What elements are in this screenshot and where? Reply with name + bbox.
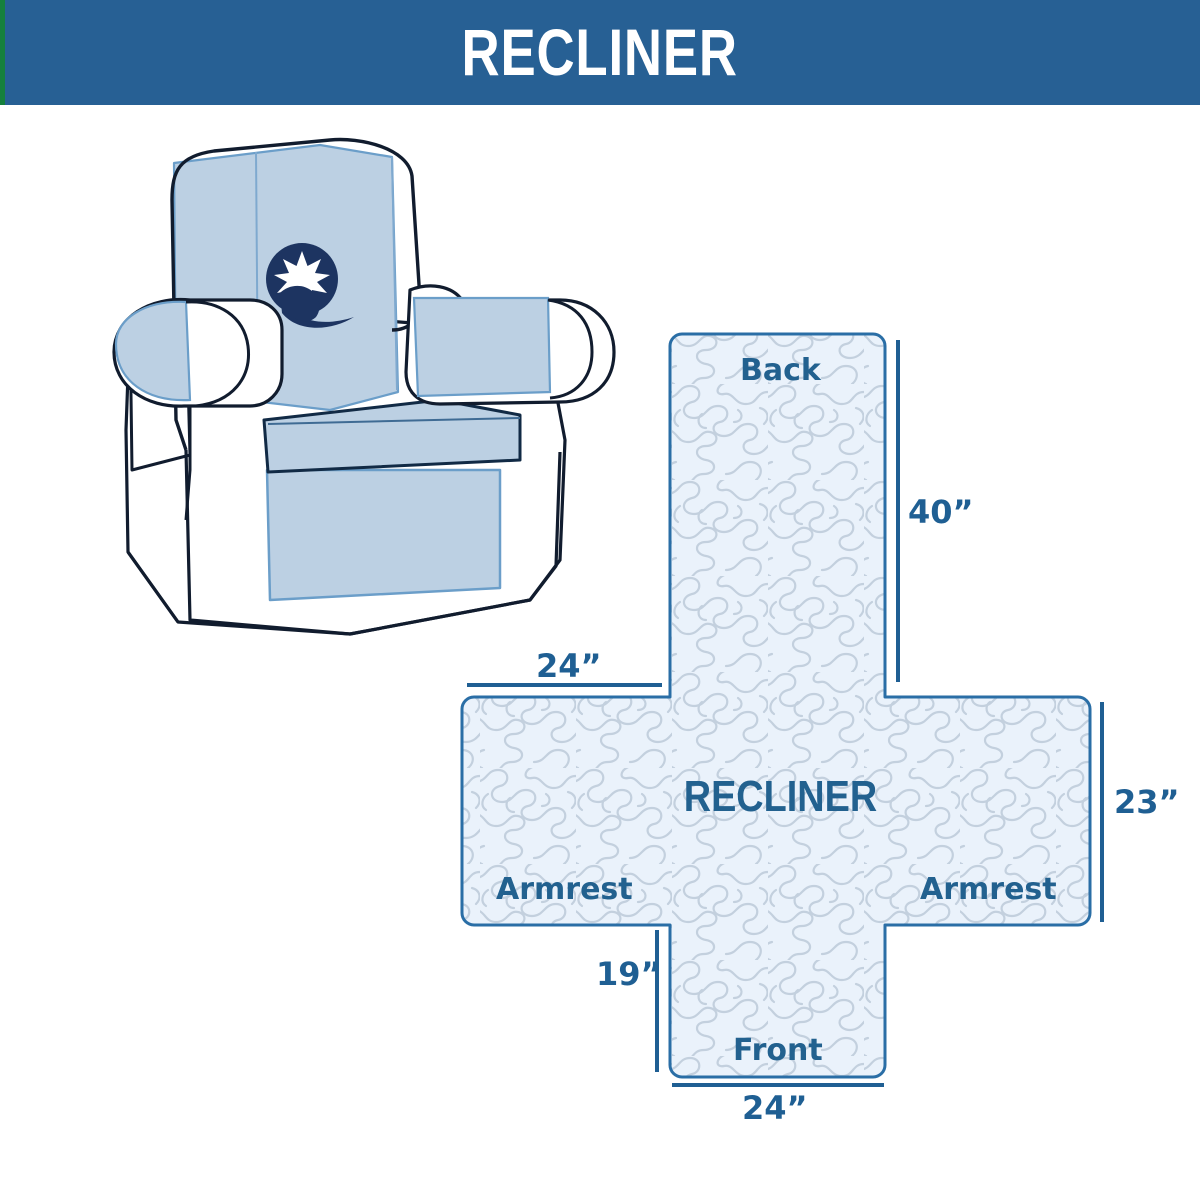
dimension-label-40in: 40” bbox=[908, 496, 974, 528]
dimension-label-24in-bottom: 24” bbox=[742, 1092, 808, 1124]
label-recliner-center: RECLINER bbox=[684, 775, 877, 819]
screenshot-root: RECLINER bbox=[0, 0, 1200, 1200]
chair-front-skirt-panel bbox=[267, 470, 500, 600]
recliner-chair-illustration bbox=[114, 140, 614, 634]
dimension-label-19in: 19” bbox=[596, 958, 662, 990]
label-back: Back bbox=[740, 356, 821, 386]
chair-right-armrest-panel bbox=[414, 298, 550, 396]
label-armrest-left: Armrest bbox=[496, 875, 633, 905]
dimension-label-24in-top: 24” bbox=[536, 650, 602, 682]
dimension-label-23in: 23” bbox=[1114, 786, 1180, 818]
diagram-canvas bbox=[0, 0, 1200, 1200]
label-front: Front bbox=[733, 1036, 823, 1066]
label-armrest-right: Armrest bbox=[920, 875, 1057, 905]
